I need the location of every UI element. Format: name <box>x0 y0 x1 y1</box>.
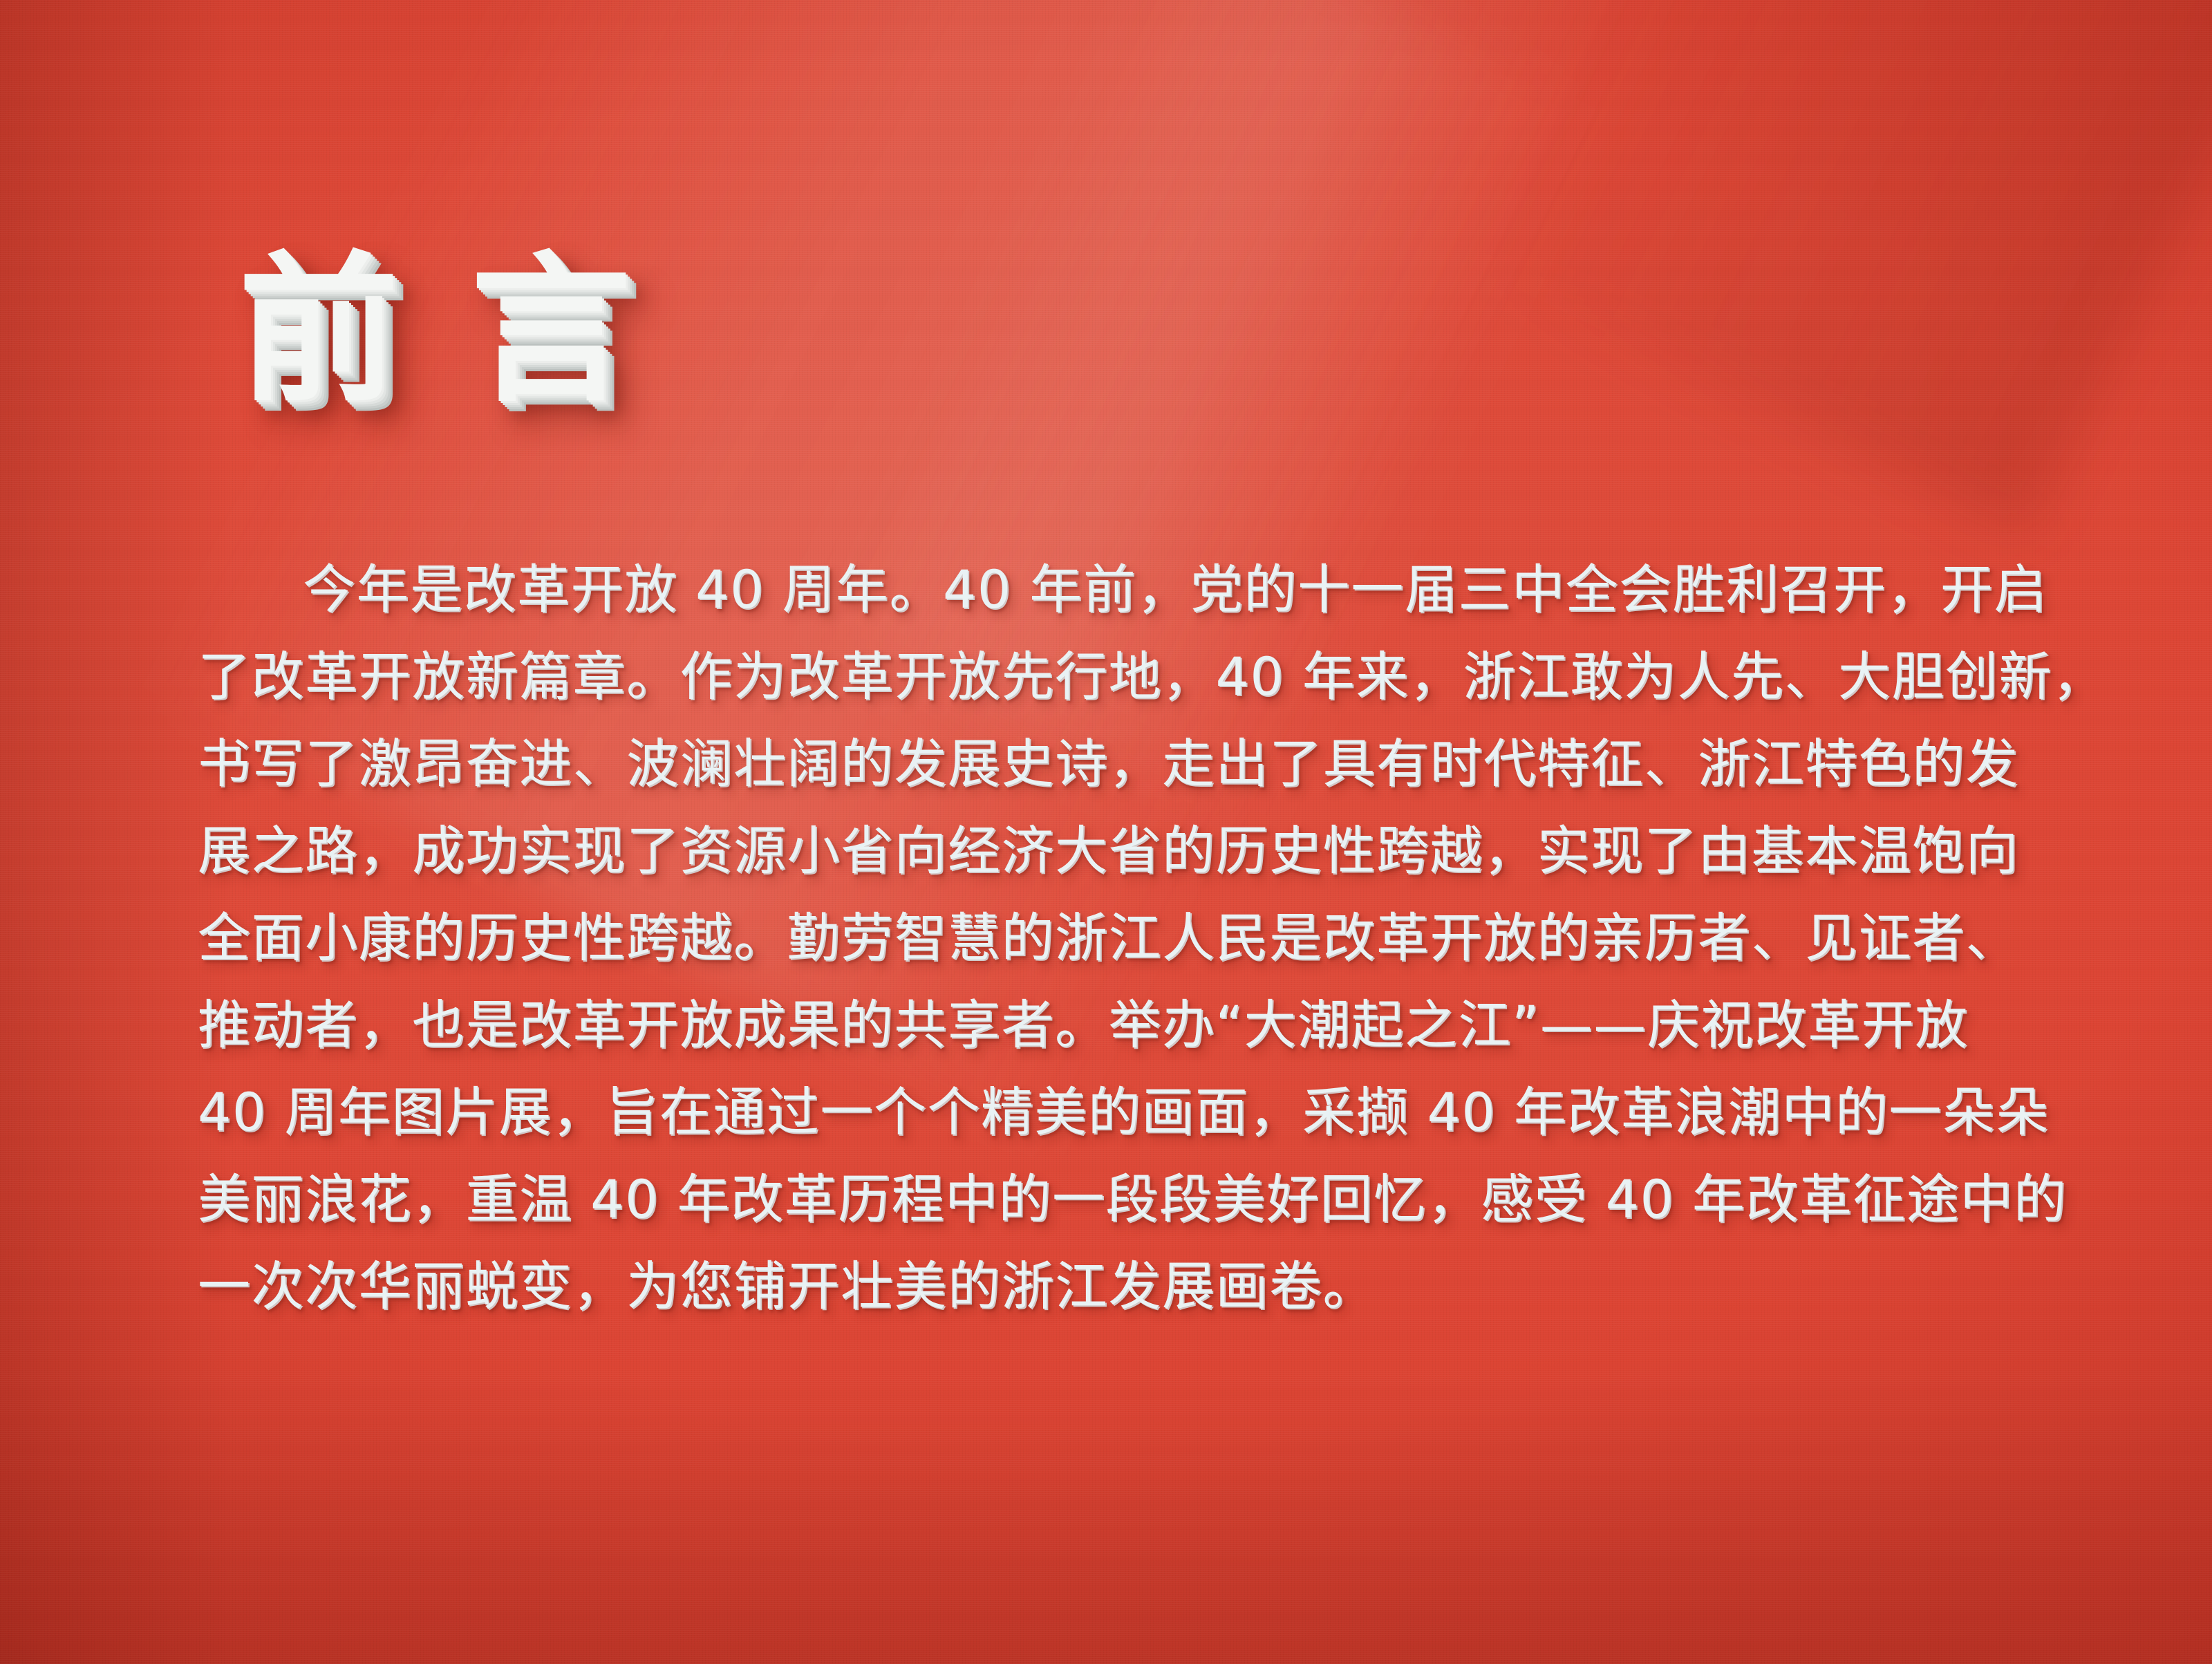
body-line: 了改革开放新篇章。作为改革开放先行地，40 年来，浙江敢为人先、大胆创新， <box>198 633 2030 720</box>
page-title: 前 言 <box>238 250 631 411</box>
body-line: 今年是改革开放 40 周年。40 年前，党的十一届三中全会胜利召开，开启 <box>198 546 2030 633</box>
body-line: 展之路，成功实现了资源小省向经济大省的历史性跨越，实现了由基本温饱向 <box>198 807 2030 895</box>
exhibition-preface-wall: 前 言 今年是改革开放 40 周年。40 年前，党的十一届三中全会胜利召开，开启… <box>0 0 2212 1664</box>
body-line: 书写了激昂奋进、波澜壮阔的发展史诗，走出了具有时代特征、浙江特色的发 <box>198 720 2030 807</box>
body-line: 一次次华丽蜕变，为您铺开壮美的浙江发展画卷。 <box>198 1243 2030 1330</box>
title-char-2: 言 <box>471 250 631 411</box>
title-char-1: 前 <box>238 250 399 411</box>
body-line: 推动者，也是改革开放成果的共享者。举办“大潮起之江”——庆祝改革开放 <box>198 982 2030 1069</box>
preface-body-text: 今年是改革开放 40 周年。40 年前，党的十一届三中全会胜利召开，开启 了改革… <box>198 546 2030 1330</box>
body-line: 全面小康的历史性跨越。勤劳智慧的浙江人民是改革开放的亲历者、见证者、 <box>198 895 2030 982</box>
body-line: 美丽浪花，重温 40 年改革历程中的一段段美好回忆，感受 40 年改革征途中的 <box>198 1156 2030 1243</box>
body-line: 40 周年图片展，旨在通过一个个精美的画面，采撷 40 年改革浪潮中的一朵朵 <box>198 1069 2030 1156</box>
